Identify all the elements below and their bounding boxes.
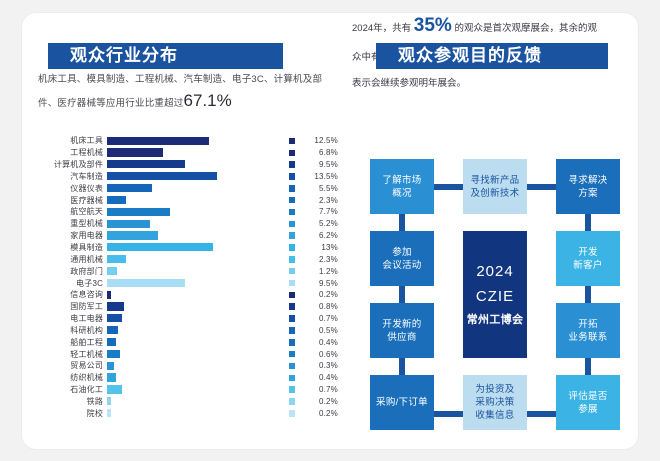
bar (107, 267, 117, 275)
flow-box-seek-solution: 寻求解决方案 (556, 159, 620, 214)
legend-entry: 0.3% (253, 361, 338, 370)
bar-label: 铁路 (36, 396, 107, 407)
bar-value: 12.5% (302, 136, 338, 145)
legend-swatch-icon (289, 315, 296, 322)
bar-track (107, 194, 253, 206)
legend-entry: 0.2% (253, 397, 338, 406)
bar-track (107, 182, 253, 194)
bar (107, 196, 126, 204)
bar-value: 0.4% (302, 338, 338, 347)
flow-box-line-1: 寻求解决 (568, 174, 607, 187)
bar-track (107, 325, 253, 337)
bar-label: 纺织机械 (36, 372, 107, 383)
bar-value: 0.6% (302, 350, 338, 359)
left-panel-intro: 机床工具、模具制造、工程机械、汽车制造、电子3C、计算机及部件、医疗器械等应用行… (38, 69, 338, 114)
conn-bot-left (434, 411, 463, 417)
bar (107, 373, 116, 381)
bar-track (107, 253, 253, 265)
bar-label: 模具制造 (36, 242, 107, 253)
bar (107, 220, 150, 228)
bar-label: 汽车制造 (36, 171, 107, 182)
legend-swatch-icon (289, 351, 296, 358)
bar-value: 0.5% (302, 326, 338, 335)
legend-swatch-icon (289, 386, 296, 393)
bar-label: 仪器仪表 (36, 183, 107, 194)
bar-label: 院校 (36, 408, 107, 419)
bar (107, 397, 111, 405)
bar-label: 航空航天 (36, 206, 107, 217)
bar-track (107, 407, 253, 419)
bar-track (107, 372, 253, 384)
chart-row: 重型机械5.2% (36, 218, 338, 230)
flow-box-join-conference: 参加会议活动 (370, 231, 434, 286)
bar-value: 13.5% (302, 172, 338, 181)
legend-swatch-icon (289, 410, 296, 417)
conn-bot-right (527, 411, 556, 417)
flow-box-purchase-order: 采购/下订单 (370, 375, 434, 430)
legend-swatch-icon (289, 173, 296, 180)
legend-entry: 5.2% (253, 219, 338, 228)
chart-row: 模具制造13% (36, 242, 338, 254)
legend-swatch-icon (289, 209, 296, 216)
flow-box-expand-contact: 开拓业务联系 (556, 303, 620, 358)
bar-label: 家用电器 (36, 230, 107, 241)
bar-track (107, 147, 253, 159)
flow-box-line-2: 会议活动 (382, 259, 421, 272)
bar-label: 医疗器械 (36, 195, 107, 206)
bar-label: 通用机械 (36, 254, 107, 265)
bar-value: 7.7% (302, 207, 338, 216)
bar-value: 13% (302, 243, 338, 252)
flow-box-evaluate-exhibit: 评估是否参展 (556, 375, 620, 430)
bar-value: 9.5% (302, 279, 338, 288)
legend-swatch-icon (289, 363, 296, 370)
flow-box-line-1: 为投资及 (475, 383, 514, 396)
legend-entry: 6.2% (253, 231, 338, 240)
flow-box-line-2: 概况 (392, 187, 412, 200)
conn-top-right (527, 184, 556, 190)
bar-value: 0.7% (302, 385, 338, 394)
chart-row: 计算机及部件9.5% (36, 159, 338, 171)
chart-row: 科研机构0.5% (36, 325, 338, 337)
flow-box-line-2: 供应商 (387, 331, 416, 344)
bar-value: 5.5% (302, 184, 338, 193)
bar-value: 0.8% (302, 302, 338, 311)
legend-swatch-icon (289, 150, 296, 157)
flow-box-line-3: 收集信息 (475, 409, 514, 422)
conn-left-2 (399, 286, 405, 303)
legend-swatch-icon (289, 303, 296, 310)
bar-value: 9.5% (302, 160, 338, 169)
bar (107, 184, 152, 192)
legend-entry: 0.7% (253, 385, 338, 394)
bar-value: 6.8% (302, 148, 338, 157)
flow-box-line-2: 方案 (578, 187, 598, 200)
legend-swatch-icon (289, 256, 296, 263)
legend-swatch-icon (289, 197, 296, 204)
legend-swatch-icon (289, 292, 296, 299)
intro-percent-1: 35% (414, 15, 452, 36)
legend-swatch-icon (289, 244, 296, 251)
legend-swatch-icon (289, 375, 296, 382)
bar (107, 137, 209, 145)
chart-row: 工程机械6.8% (36, 147, 338, 159)
legend-entry: 0.8% (253, 302, 338, 311)
flow-box-line-1: 评估是否 (568, 390, 607, 403)
legend-entry: 13.5% (253, 172, 338, 181)
bar-track (107, 313, 253, 325)
bar-value: 6.2% (302, 231, 338, 240)
right-panel-title: 观众参观目的反馈 (376, 43, 608, 69)
legend-entry: 0.4% (253, 373, 338, 382)
chart-row: 国防军工0.8% (36, 301, 338, 313)
bar-value: 0.7% (302, 314, 338, 323)
flow-box-line-1: 开发新的 (382, 318, 421, 331)
bar-value: 2.3% (302, 255, 338, 264)
conn-left-1 (399, 214, 405, 231)
bar-value: 0.4% (302, 373, 338, 382)
flow-box-line-1: 开拓 (578, 318, 598, 331)
legend-swatch-icon (289, 327, 296, 334)
bar-label: 工程机械 (36, 147, 107, 158)
bar-track (107, 206, 253, 218)
bar-track (107, 289, 253, 301)
legend-entry: 5.5% (253, 184, 338, 193)
legend-swatch-icon (289, 398, 296, 405)
chart-row: 电工电器0.7% (36, 313, 338, 325)
flow-box-line-2: 业务联系 (568, 331, 607, 344)
bar-label: 船舶工程 (36, 337, 107, 348)
legend-entry: 0.7% (253, 314, 338, 323)
bar-value: 0.3% (302, 361, 338, 370)
bar (107, 362, 114, 370)
bar-track (107, 159, 253, 171)
bar-label: 计算机及部件 (36, 159, 107, 170)
panel-audience-industry: 观众行业分布 机床工具、模具制造、工程机械、汽车制造、电子3C、计算机及部件、医… (22, 13, 352, 449)
chart-row: 电子3C9.5% (36, 277, 338, 289)
conn-right-1 (585, 214, 591, 231)
bar (107, 302, 124, 310)
chart-row: 通用机械2.3% (36, 253, 338, 265)
center-box-line-2: CZIE (476, 284, 514, 309)
legend-entry: 7.7% (253, 207, 338, 216)
legend-entry: 1.2% (253, 267, 338, 276)
bar-label: 机床工具 (36, 135, 107, 146)
conn-left-3 (399, 358, 405, 375)
bar (107, 255, 126, 263)
bar-value: 0.2% (302, 409, 338, 418)
bar (107, 148, 163, 156)
bar-label: 石油化工 (36, 384, 107, 395)
bar-value: 2.3% (302, 196, 338, 205)
legend-entry: 0.5% (253, 326, 338, 335)
legend-entry: 6.8% (253, 148, 338, 157)
left-panel-title: 观众行业分布 (48, 43, 283, 69)
bar-track (107, 171, 253, 183)
flow-box-new-supplier: 开发新的供应商 (370, 303, 434, 358)
flow-box-line-1: 采购/下订单 (376, 396, 428, 409)
bar (107, 409, 111, 417)
chart-row: 政府部门1.2% (36, 265, 338, 277)
chart-row: 航空航天7.7% (36, 206, 338, 218)
industry-bar-chart: 机床工具12.5%工程机械6.8%计算机及部件9.5%汽车制造13.5%仪器仪表… (36, 135, 338, 419)
bar (107, 243, 213, 251)
bar-track (107, 336, 253, 348)
legend-swatch-icon (289, 161, 296, 168)
chart-row: 院校0.2% (36, 407, 338, 419)
bar (107, 385, 122, 393)
bar-track (107, 301, 253, 313)
legend-entry: 2.3% (253, 196, 338, 205)
chart-row: 船舶工程0.4% (36, 336, 338, 348)
bar-label: 轻工机械 (36, 349, 107, 360)
bar-track (107, 135, 253, 147)
flow-box-line-2: 参展 (578, 403, 598, 416)
conn-right-3 (585, 358, 591, 375)
bar-track (107, 384, 253, 396)
chart-row: 信息咨询0.2% (36, 289, 338, 301)
flow-box-line-2: 及创新技术 (470, 187, 519, 200)
bar (107, 338, 116, 346)
legend-entry: 9.5% (253, 279, 338, 288)
legend-swatch-icon (289, 268, 296, 275)
bar-track (107, 277, 253, 289)
flow-box-line-1: 开发 (578, 246, 598, 259)
bar-label: 科研机构 (36, 325, 107, 336)
bar (107, 160, 185, 168)
chart-row: 仪器仪表5.5% (36, 182, 338, 194)
legend-entry: 0.2% (253, 290, 338, 299)
bar-track (107, 360, 253, 372)
chart-row: 石油化工0.7% (36, 384, 338, 396)
bar-label: 国防军工 (36, 301, 107, 312)
infographic-card: 观众行业分布 机床工具、模具制造、工程机械、汽车制造、电子3C、计算机及部件、医… (22, 13, 638, 449)
chart-row: 医疗器械2.3% (36, 194, 338, 206)
flow-box-line-1: 寻找新产品 (470, 174, 519, 187)
flow-box-collect-info: 为投资及采购决策收集信息 (463, 375, 527, 430)
bar-label: 重型机械 (36, 218, 107, 229)
chart-row: 轻工机械0.6% (36, 348, 338, 360)
legend-swatch-icon (289, 185, 296, 192)
bar (107, 350, 120, 358)
bar-value: 1.2% (302, 267, 338, 276)
bar-label: 贸易公司 (36, 360, 107, 371)
bar-track (107, 265, 253, 277)
bar (107, 326, 118, 334)
flow-box-develop-customer: 开发新客户 (556, 231, 620, 286)
bar-label: 电子3C (36, 278, 107, 289)
left-intro-text: 机床工具、模具制造、工程机械、汽车制造、电子3C、计算机及部件、医疗器械等应用行… (38, 74, 322, 109)
bar-label: 政府部门 (36, 266, 107, 277)
flow-box-line-2: 新客户 (573, 259, 602, 272)
bar-track (107, 396, 253, 408)
chart-row: 汽车制造13.5% (36, 171, 338, 183)
left-intro-highlight: 67.1% (184, 91, 232, 110)
flow-box-line-2: 采购决策 (475, 396, 514, 409)
bar (107, 291, 111, 299)
chart-row: 家用电器6.2% (36, 230, 338, 242)
panel-visit-purpose: 观众参观目的反馈 2024年，共有 35% 的观众是首次观摩展会，其余的观众中有… (352, 13, 638, 449)
bar (107, 172, 217, 180)
visit-purpose-flowchart: 2024CZIE常州工博会了解市场概况寻找新产品及创新技术寻求解决方案参加会议活… (370, 159, 620, 434)
bar (107, 279, 185, 287)
legend-entry: 13% (253, 243, 338, 252)
chart-row: 纺织机械0.4% (36, 372, 338, 384)
bar-track (107, 218, 253, 230)
flow-box-know-market: 了解市场概况 (370, 159, 434, 214)
legend-entry: 0.2% (253, 409, 338, 418)
flow-box-line-1: 了解市场 (382, 174, 421, 187)
bar-value: 5.2% (302, 219, 338, 228)
bar-track (107, 242, 253, 254)
legend-swatch-icon (289, 339, 296, 346)
legend-swatch-icon (289, 138, 296, 145)
bar-track (107, 230, 253, 242)
bar-value: 0.2% (302, 397, 338, 406)
chart-row: 贸易公司0.3% (36, 360, 338, 372)
legend-entry: 2.3% (253, 255, 338, 264)
bar (107, 208, 170, 216)
bar (107, 314, 122, 322)
flow-center-box: 2024CZIE常州工博会 (463, 231, 527, 358)
legend-swatch-icon (289, 280, 296, 287)
legend-swatch-icon (289, 221, 296, 228)
center-box-line-1: 2024 (476, 259, 513, 284)
flow-box-line-1: 参加 (392, 246, 412, 259)
legend-entry: 0.6% (253, 350, 338, 359)
bar-track (107, 348, 253, 360)
flow-box-find-product: 寻找新产品及创新技术 (463, 159, 527, 214)
intro-text-0: 2024年，共有 (352, 23, 414, 34)
bar (107, 231, 158, 239)
chart-row: 铁路0.2% (36, 396, 338, 408)
legend-entry: 9.5% (253, 160, 338, 169)
bar-label: 电工电器 (36, 313, 107, 324)
legend-swatch-icon (289, 232, 296, 239)
legend-entry: 0.4% (253, 338, 338, 347)
legend-entry: 12.5% (253, 136, 338, 145)
bar-label: 信息咨询 (36, 289, 107, 300)
conn-right-2 (585, 286, 591, 303)
center-box-line-3: 常州工博会 (467, 309, 524, 331)
chart-row: 机床工具12.5% (36, 135, 338, 147)
bar-value: 0.2% (302, 290, 338, 299)
conn-top-left (434, 184, 463, 190)
